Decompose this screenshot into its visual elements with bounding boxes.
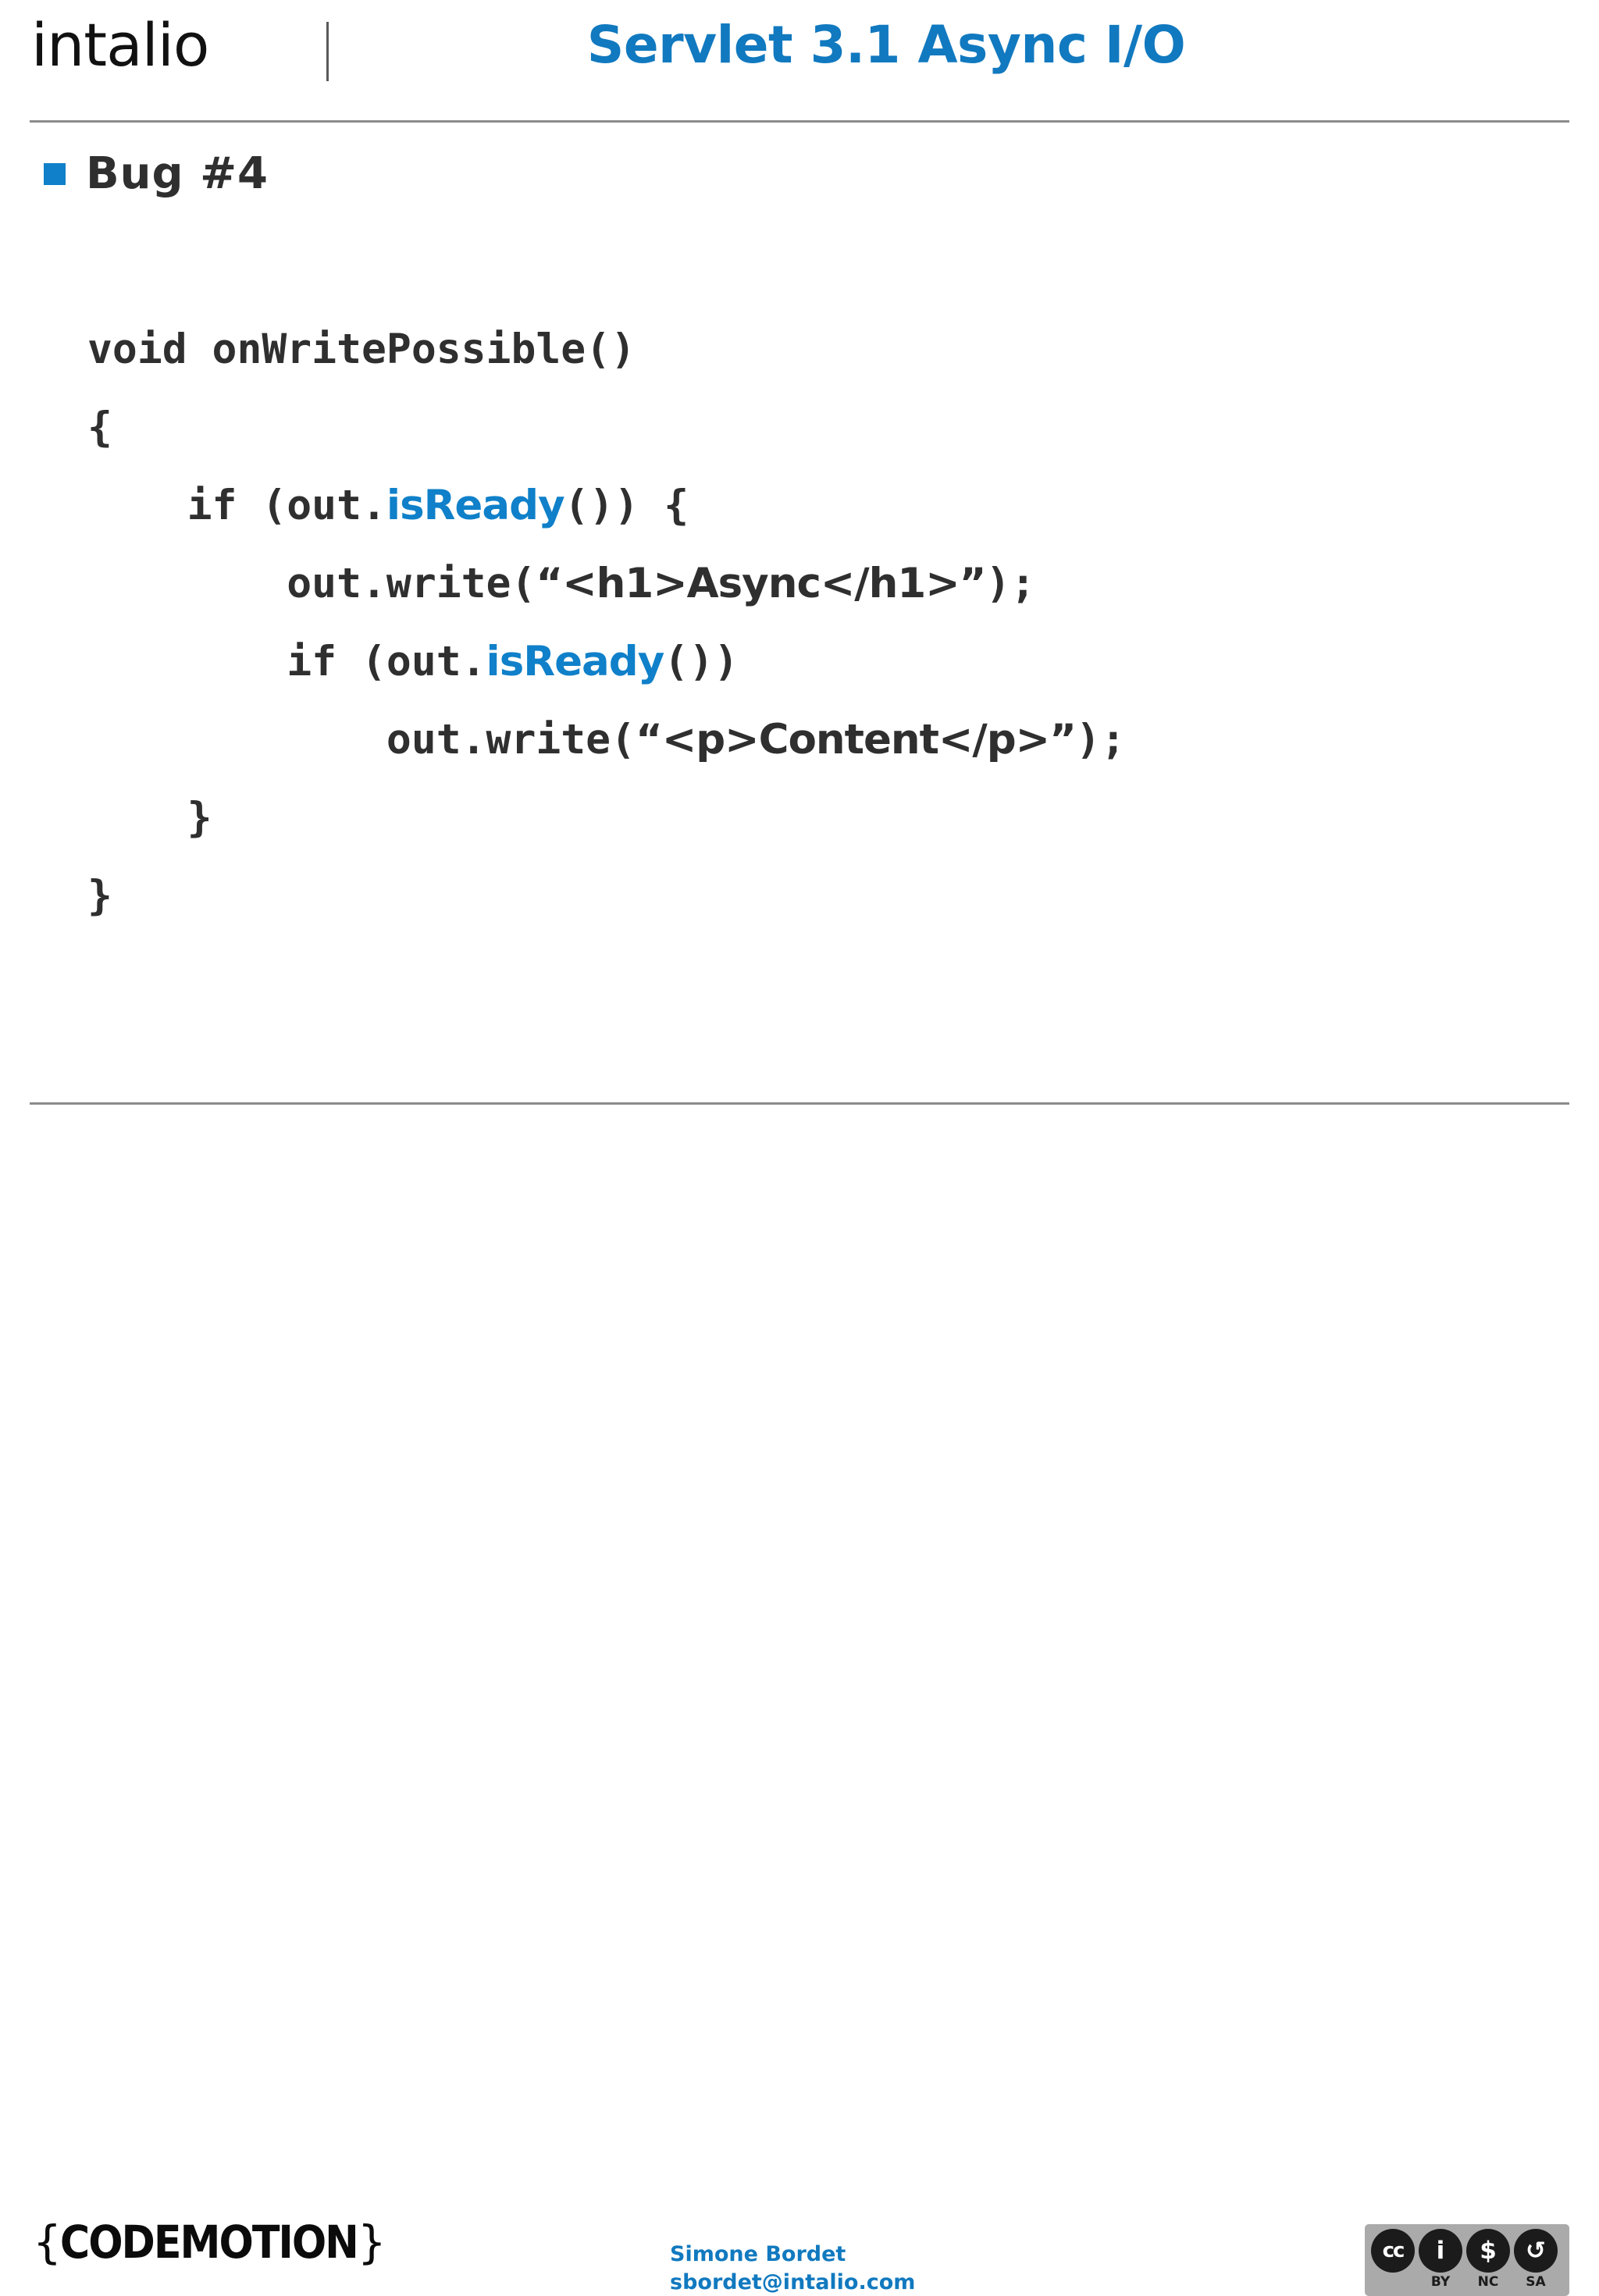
code-block: void onWritePossible() { if (out.isReady… (87, 311, 1493, 935)
presenter-contact: Simone Bordet sbordet@intalio.com (670, 2241, 915, 2296)
intalio-logo: intalio (31, 16, 208, 75)
cc-by-icon: i BY (1419, 2229, 1462, 2273)
code-token: void onWritePossible() (87, 326, 636, 373)
code-token: } (87, 794, 212, 842)
bullet-item: Bug #4 (44, 152, 269, 196)
page-title: Servlet 3.1 Async I/O (336, 17, 1437, 74)
code-token: { (87, 404, 112, 451)
code-line: out.write(“<p>Content</p>”); (87, 701, 1493, 779)
codemotion-logo: {codemotion} (33, 2219, 385, 2265)
code-line: } (87, 779, 1493, 857)
header-horizontal-rule (30, 120, 1569, 123)
cc-by-glyph: i (1419, 2229, 1462, 2273)
presenter-name: Simone Bordet (670, 2241, 915, 2269)
code-token: ); (1076, 716, 1126, 764)
cc-nc-icon: $ NC (1466, 2229, 1510, 2273)
code-token: } (87, 872, 112, 920)
code-token: ()) (664, 638, 739, 685)
cc-nc-glyph: $ (1466, 2229, 1510, 2273)
code-line: if (out.isReady()) { (87, 467, 1493, 545)
cc-logo-icon: cc (1371, 2229, 1415, 2273)
header-divider (326, 22, 329, 81)
cc-sa-icon: ↺ SA (1514, 2229, 1558, 2273)
cc-sa-glyph: ↺ (1514, 2229, 1558, 2273)
cc-glyph: cc (1371, 2229, 1415, 2273)
code-token: out.write( (87, 560, 536, 607)
code-token: if (out. (87, 482, 386, 529)
cc-nc-caption: NC (1466, 2274, 1510, 2290)
code-token: if (out. (87, 638, 486, 685)
code-line: out.write(“<h1>Async</h1>”); (87, 545, 1493, 623)
codemotion-logo-word: codemotion (60, 2216, 358, 2269)
cc-sa-caption: SA (1514, 2274, 1558, 2290)
code-token: ()) { (564, 482, 689, 529)
code-line: { (87, 389, 1493, 467)
code-token: ); (986, 560, 1036, 607)
codemotion-logo-brace-open: { (33, 2216, 60, 2269)
code-token-keyword: isReady (486, 638, 664, 685)
code-line: void onWritePossible() (87, 311, 1493, 389)
slide-footer: {codemotion} Simone Bordet sbordet@intal… (0, 1105, 1599, 1199)
slide-header: intalio Servlet 3.1 Async I/O (0, 0, 1599, 122)
square-bullet-icon (44, 163, 66, 185)
code-token-string: “<p>Content</p>” (636, 716, 1076, 764)
bullet-item-label: Bug #4 (86, 152, 269, 196)
code-token: out.write( (87, 716, 636, 764)
cc-by-caption: BY (1419, 2274, 1462, 2290)
code-line: } (87, 857, 1493, 935)
presenter-email[interactable]: sbordet@intalio.com (670, 2269, 915, 2296)
code-token-keyword: isReady (386, 482, 564, 529)
code-line: if (out.isReady()) (87, 623, 1493, 701)
codemotion-logo-brace-close: } (358, 2216, 385, 2269)
creative-commons-badge[interactable]: cc i BY $ NC ↺ SA (1365, 2224, 1569, 2296)
code-token-string: “<h1>Async</h1>” (536, 560, 985, 607)
